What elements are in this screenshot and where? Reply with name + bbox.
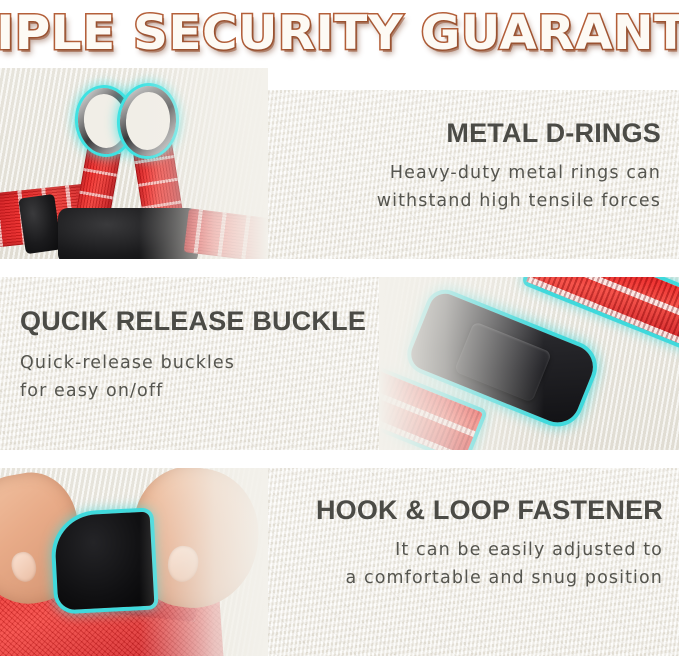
panel-2-heading: QUCIK RELEASE BUCKLE (20, 306, 366, 337)
red-fabric-flap (76, 524, 204, 622)
strap-ring-left (73, 104, 128, 232)
hook-and-loop-patch[interactable] (54, 512, 155, 611)
strap-lower-left (379, 353, 483, 450)
feature-panel-quick-release-buckle: QUCIK RELEASE BUCKLE Quick-release buckl… (0, 277, 679, 450)
panel-1-body-line-1: Heavy-duty metal rings can (377, 159, 661, 187)
strap-right-lower (184, 208, 268, 259)
strap-upper-right (526, 277, 679, 353)
feature-panel-metal-d-rings: METAL D-RINGS Heavy-duty metal rings can… (0, 90, 679, 259)
title-banner: TRIPLE SECURITY GUARANTEE (0, 0, 679, 66)
panel-1-body: Heavy-duty metal rings can withstand hig… (377, 159, 661, 216)
panel-2-text-block: QUCIK RELEASE BUCKLE Quick-release buckl… (20, 306, 366, 406)
photo-backdrop (379, 277, 679, 450)
harness-body (58, 208, 198, 259)
page-title: TRIPLE SECURITY GUARANTEE (0, 10, 679, 57)
fingernail-left (9, 550, 40, 585)
feature-panel-hook-and-loop: HOOK & LOOP FASTENER It can be easily ad… (0, 468, 679, 656)
d-rings-photo (0, 68, 268, 259)
panel-1-text-block: METAL D-RINGS Heavy-duty metal rings can… (377, 118, 661, 216)
panel-3-heading: HOOK & LOOP FASTENER (316, 495, 663, 526)
red-fabric-panel (0, 544, 224, 656)
hand-right (123, 468, 267, 616)
panel-3-text-block: HOOK & LOOP FASTENER It can be easily ad… (316, 495, 663, 593)
buckle-photo (379, 277, 679, 450)
panel-2-body-line-2: for easy on/off (20, 377, 366, 405)
panel-3-body: It can be easily adjusted to a comfortab… (316, 536, 663, 593)
panel-3-body-line-2: a comfortable and snug position (316, 564, 663, 592)
panel-divider-1 (0, 259, 679, 277)
panel-2-body: Quick-release buckles for easy on/off (20, 349, 366, 406)
panel-1-heading: METAL D-RINGS (377, 118, 661, 149)
panel-2-body-line-1: Quick-release buckles (20, 349, 366, 377)
panel-3-body-line-1: It can be easily adjusted to (316, 536, 663, 564)
quick-release-buckle[interactable] (406, 289, 599, 429)
hand-left (0, 468, 90, 613)
buckle-face-plate (454, 321, 552, 403)
metal-d-ring-right[interactable] (118, 84, 179, 158)
photo-backdrop (0, 68, 268, 259)
fingernail-right (165, 544, 201, 585)
hardware-left (18, 194, 61, 254)
photo-backdrop (0, 468, 268, 656)
panel-1-body-line-2: withstand high tensile forces (377, 187, 661, 215)
hook-loop-photo (0, 468, 268, 656)
strap-left-lower (0, 182, 108, 248)
strap-ring-right (125, 98, 186, 243)
panel-divider-2 (0, 450, 679, 468)
metal-d-ring-left[interactable] (75, 85, 136, 156)
